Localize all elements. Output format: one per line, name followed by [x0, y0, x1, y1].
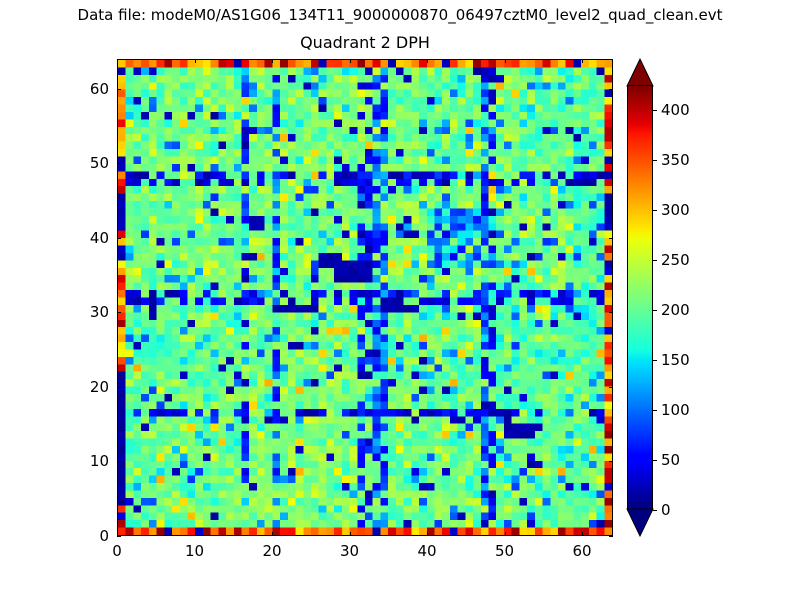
y-tick-mark-right	[609, 163, 613, 164]
colorbar-tick-label: 150	[661, 351, 690, 369]
colorbar-gradient	[628, 86, 652, 509]
colorbar-tick-label: 300	[661, 201, 690, 219]
colorbar-tick-mark	[653, 160, 657, 161]
y-tick-mark-right	[609, 312, 613, 313]
y-tick-mark	[117, 312, 121, 313]
x-tick-mark	[350, 532, 351, 536]
heatmap-axes[interactable]	[117, 59, 613, 536]
x-tick-label: 40	[417, 542, 436, 560]
colorbar-tick-mark	[653, 110, 657, 111]
colorbar-tick-label: 200	[661, 301, 690, 319]
x-tick-label: 50	[495, 542, 514, 560]
colorbar-tick-label: 100	[661, 401, 690, 419]
x-tick-mark-top	[427, 59, 428, 63]
x-tick-label: 60	[572, 542, 591, 560]
y-tick-label: 30	[77, 303, 109, 321]
colorbar-body	[627, 85, 653, 510]
colorbar-tick-label: 350	[661, 151, 690, 169]
colorbar-tick-mark	[653, 310, 657, 311]
y-tick-mark	[117, 89, 121, 90]
colorbar-tick-label: 50	[661, 451, 680, 469]
colorbar-tick-mark	[653, 410, 657, 411]
y-tick-mark-right	[609, 238, 613, 239]
x-tick-label: 0	[112, 542, 122, 560]
x-tick-label: 30	[340, 542, 359, 560]
x-tick-mark-top	[272, 59, 273, 63]
x-tick-mark-top	[582, 59, 583, 63]
colorbar-extend-min-arrow	[627, 509, 653, 536]
colorbar-extend-max-arrow	[627, 59, 653, 86]
y-tick-label: 40	[77, 229, 109, 247]
y-tick-mark-right	[609, 536, 613, 537]
detector-pixel-heatmap[interactable]	[118, 60, 612, 535]
y-tick-mark-right	[609, 461, 613, 462]
page-title: Quadrant 2 DPH	[117, 33, 613, 52]
y-tick-mark	[117, 163, 121, 164]
figure-suptitle: Data file: modeM0/AS1G06_134T11_90000008…	[0, 6, 800, 24]
y-tick-label: 0	[77, 527, 109, 545]
y-tick-mark	[117, 536, 121, 537]
colorbar-tick-label: 250	[661, 251, 690, 269]
x-tick-mark	[272, 532, 273, 536]
x-tick-mark-top	[195, 59, 196, 63]
y-tick-mark-right	[609, 89, 613, 90]
x-tick-mark	[195, 532, 196, 536]
y-tick-label: 50	[77, 154, 109, 172]
colorbar-tick-mark	[653, 360, 657, 361]
x-tick-mark	[505, 532, 506, 536]
y-tick-mark-right	[609, 387, 613, 388]
y-tick-mark	[117, 238, 121, 239]
colorbar-tick-label: 0	[661, 501, 671, 519]
y-tick-label: 20	[77, 378, 109, 396]
colorbar-tick-mark	[653, 260, 657, 261]
colorbar[interactable]: 050100150200250300350400	[627, 59, 653, 536]
x-tick-mark-top	[117, 59, 118, 63]
x-tick-mark	[427, 532, 428, 536]
colorbar-tick-mark	[653, 510, 657, 511]
colorbar-tick-mark	[653, 460, 657, 461]
y-tick-mark	[117, 461, 121, 462]
y-tick-label: 60	[77, 80, 109, 98]
x-tick-mark	[582, 532, 583, 536]
matplotlib-figure: Data file: modeM0/AS1G06_134T11_90000008…	[0, 0, 800, 600]
colorbar-tick-mark	[653, 210, 657, 211]
x-tick-mark-top	[350, 59, 351, 63]
x-tick-mark-top	[505, 59, 506, 63]
y-tick-label: 10	[77, 452, 109, 470]
x-tick-label: 20	[262, 542, 281, 560]
y-tick-mark	[117, 387, 121, 388]
x-tick-label: 10	[185, 542, 204, 560]
colorbar-tick-label: 400	[661, 101, 690, 119]
